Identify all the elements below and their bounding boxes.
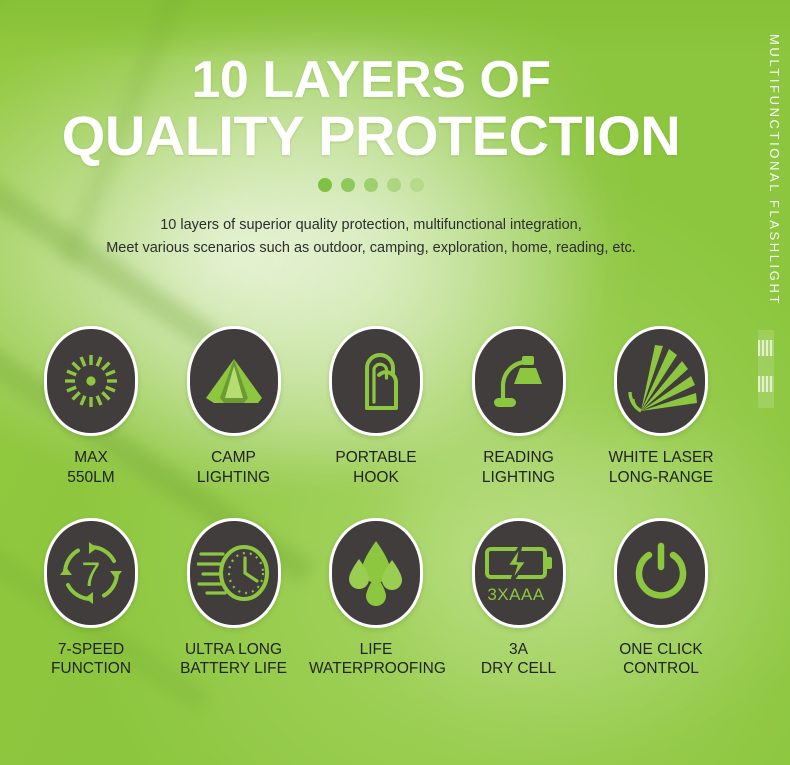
feature-row-1: MAX 550LM CAMP LIGHTING [24,326,728,488]
caption-line-1: ONE CLICK [594,640,728,660]
caption-line-1: 3A [452,640,586,660]
feature-caption: CAMP LIGHTING [167,448,301,488]
caption-line-1: MAX [24,448,158,468]
feature-item-ultra-long-battery: ULTRA LONG BATTERY LIFE [167,518,301,680]
feature-caption: ONE CLICK CONTROL [594,640,728,680]
tent-icon [202,353,266,409]
rail-decoration [758,330,774,408]
feature-badge [329,326,423,436]
laser-beam-icon [625,343,697,419]
feature-caption: ULTRA LONG BATTERY LIFE [167,640,301,680]
background-top-shade [0,0,790,58]
fast-clock-icon [197,542,271,604]
divider-dot [387,178,401,192]
subtitle-line-1: 10 layers of superior quality protection… [0,214,742,237]
feature-caption: 3A DRY CELL [452,640,586,680]
caption-line-2: CONTROL [594,659,728,679]
feature-grid: MAX 550LM CAMP LIGHTING [24,326,728,679]
desk-lamp-icon [489,350,549,412]
feature-caption: 7-SPEED FUNCTION [24,640,158,680]
title-line-1: 10 LAYERS OF [0,54,742,106]
dot-divider [0,178,742,192]
caption-line-1: WHITE LASER [594,448,728,468]
feature-badge [187,518,281,628]
feature-item-one-click-control: ONE CLICK CONTROL [594,518,728,680]
feature-item-7-speed: 7 7-SPEED FUNCTION [24,518,158,680]
rail-vertical-label: MULTIFUNCTIONAL FLASHLIGHT [767,34,782,306]
caption-line-2: WATERPROOFING [309,659,443,679]
rail-stripe [758,340,774,356]
caption-line-1: LIFE [309,640,443,660]
hook-icon [349,348,403,414]
side-rail: MULTIFUNCTIONAL FLASHLIGHT [742,0,790,765]
subtitle-line-2: Meet various scenarios such as outdoor, … [0,237,742,260]
caption-line-2: HOOK [309,468,443,488]
caption-line-2: BATTERY LIFE [167,659,301,679]
feature-badge [329,518,423,628]
divider-dot [364,178,378,192]
caption-line-1: PORTABLE [309,448,443,468]
caption-line-2: LIGHTING [167,468,301,488]
header-block: 10 LAYERS OF QUALITY PROTECTION 10 layer… [0,54,742,261]
feature-item-life-waterproofing: LIFE WATERPROOFING [309,518,443,680]
feature-caption: WHITE LASER LONG-RANGE [594,448,728,488]
feature-badge: 3XAAA [472,518,566,628]
divider-dot [341,178,355,192]
feature-item-reading-lighting: READING LIGHTING [452,326,586,488]
caption-line-1: 7-SPEED [24,640,158,660]
caption-line-2: LONG-RANGE [594,468,728,488]
subtitle-block: 10 layers of superior quality protection… [0,214,742,261]
caption-line-1: ULTRA LONG [167,640,301,660]
water-drops-icon [345,538,407,608]
feature-badge [187,326,281,436]
feature-item-max-550lm: MAX 550LM [24,326,158,488]
caption-line-2: DRY CELL [452,659,586,679]
sunburst-brightness-icon [60,350,122,412]
caption-line-2: LIGHTING [452,468,586,488]
feature-badge [614,518,708,628]
feature-item-white-laser: WHITE LASER LONG-RANGE [594,326,728,488]
page-title: 10 LAYERS OF QUALITY PROTECTION [0,54,742,164]
svg-text:7: 7 [82,556,101,594]
feature-badge: 7 [44,518,138,628]
caption-line-1: CAMP [167,448,301,468]
feature-row-2: 7 7-SPEED FUNCTION [24,518,728,680]
title-line-2: QUALITY PROTECTION [0,108,742,164]
battery-icon: 3XAAA [483,541,555,605]
feature-caption: PORTABLE HOOK [309,448,443,488]
caption-line-2: FUNCTION [24,659,158,679]
rail-stripe [758,376,774,392]
feature-caption: LIFE WATERPROOFING [309,640,443,680]
caption-line-1: READING [452,448,586,468]
caption-line-2: 550LM [24,468,158,488]
feature-badge [472,326,566,436]
battery-label: 3XAAA [487,585,544,604]
feature-badge [614,326,708,436]
seven-speed-cycle-icon: 7 [59,541,123,605]
feature-badge [44,326,138,436]
feature-caption: READING LIGHTING [452,448,586,488]
divider-dot [318,178,332,192]
feature-caption: MAX 550LM [24,448,158,488]
power-button-icon [630,541,692,605]
feature-item-camp-lighting: CAMP LIGHTING [167,326,301,488]
divider-dot [410,178,424,192]
feature-item-3a-dry-cell: 3XAAA 3A DRY CELL [452,518,586,680]
feature-item-portable-hook: PORTABLE HOOK [309,326,443,488]
product-infographic-poster: MULTIFUNCTIONAL FLASHLIGHT 10 LAYERS OF … [0,0,790,765]
